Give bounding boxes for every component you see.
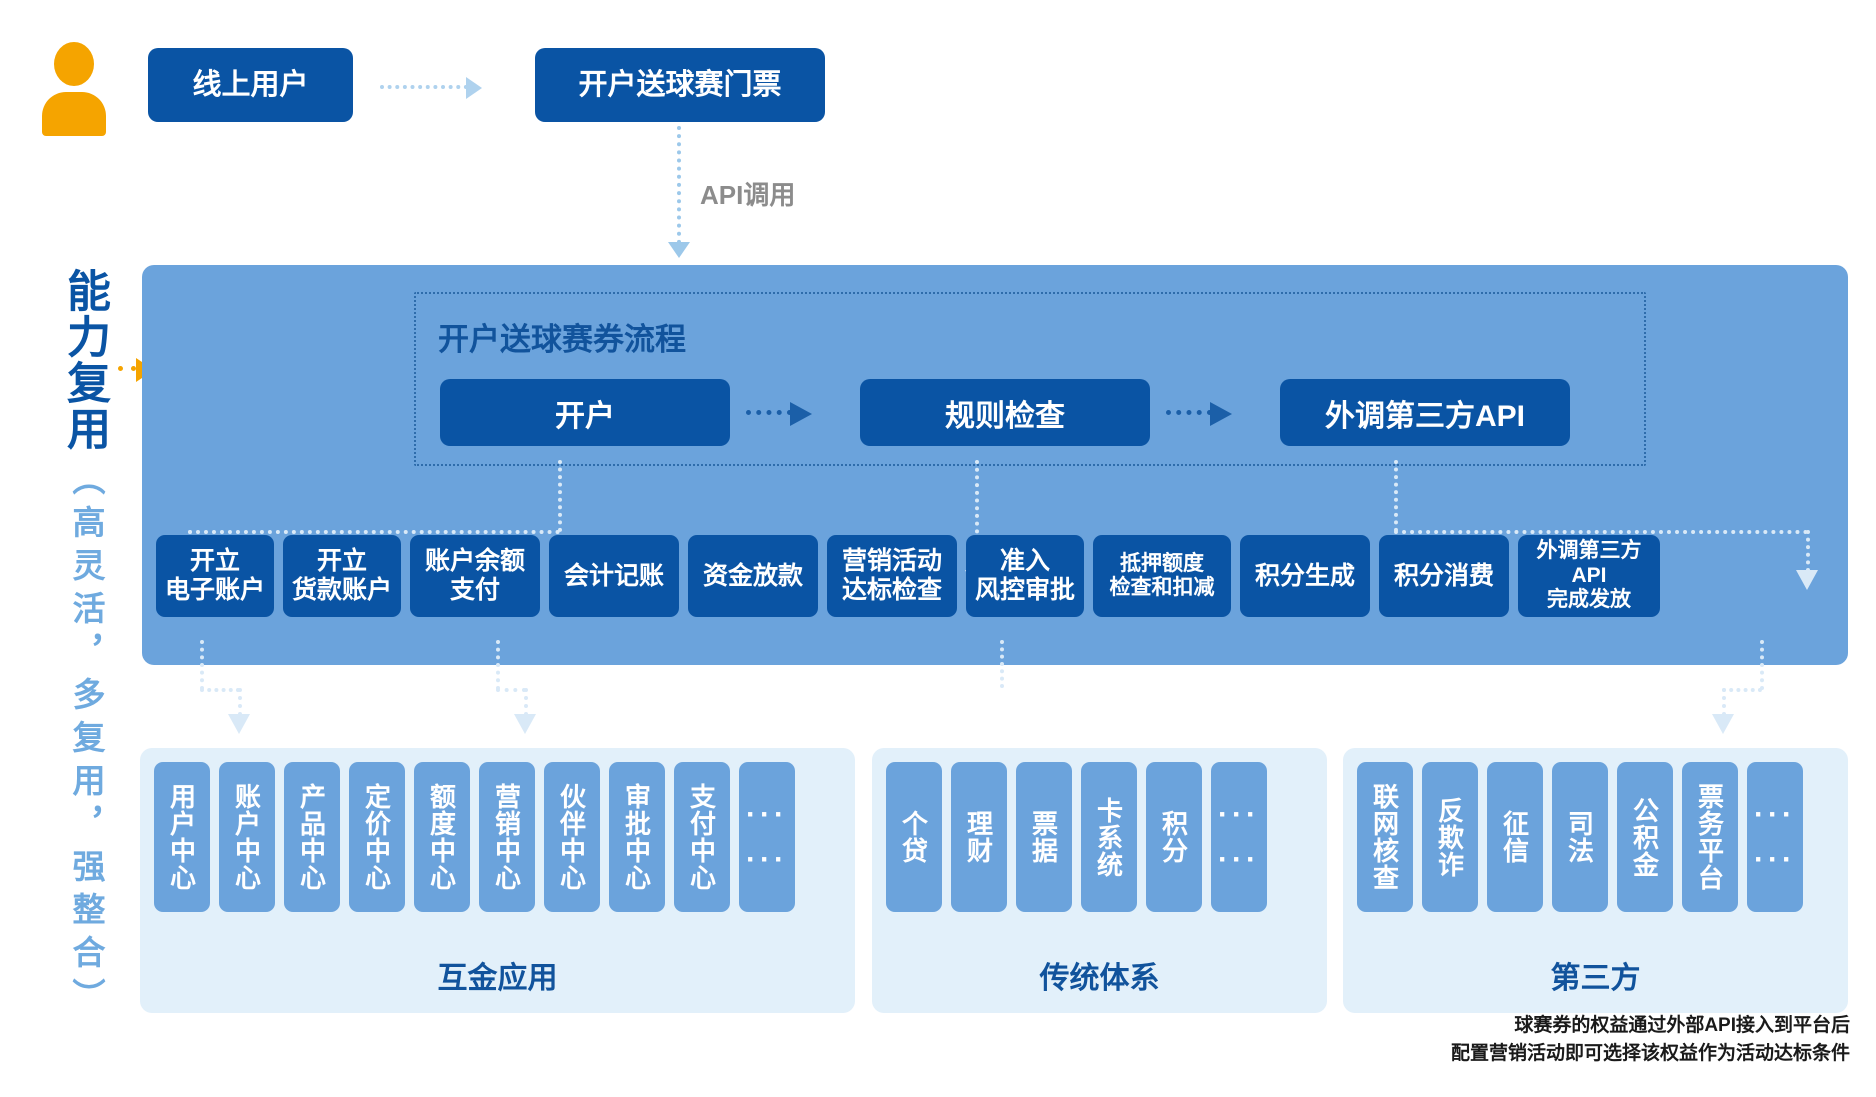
system-chip[interactable]: 卡系统 <box>1081 762 1137 912</box>
footnote-line-1: 球赛券的权益通过外部API接入到平台后 <box>1440 1012 1850 1040</box>
system-group-title: 第三方 <box>1343 953 1848 997</box>
system-chip[interactable]: 司法 <box>1552 762 1608 912</box>
system-chip[interactable]: 个贷 <box>886 762 942 912</box>
system-chip[interactable]: 伙伴中心 <box>544 762 600 912</box>
system-chip[interactable]: 票务平台 <box>1682 762 1738 912</box>
system-chip[interactable]: 公积金 <box>1617 762 1673 912</box>
system-chip[interactable]: 反欺诈 <box>1422 762 1478 912</box>
system-group-title: 互金应用 <box>140 953 855 997</box>
system-chip[interactable]: 账户中心 <box>219 762 275 912</box>
system-chip[interactable]: 票据 <box>1016 762 1072 912</box>
system-chip[interactable]: 联网核查 <box>1357 762 1413 912</box>
system-chip[interactable]: 产品中心 <box>284 762 340 912</box>
system-chip[interactable]: 审批中心 <box>609 762 665 912</box>
system-chip[interactable]: 积分 <box>1146 762 1202 912</box>
system-group-title: 传统体系 <box>872 953 1327 997</box>
system-chip-more[interactable]: ··· ··· <box>739 762 795 912</box>
system-chip[interactable]: 额度中心 <box>414 762 470 912</box>
system-group-traditional: 个贷理财票据卡系统积分··· ··· 传统体系 <box>872 748 1327 1013</box>
system-chip[interactable]: 用户中心 <box>154 762 210 912</box>
system-group-third-party: 联网核查反欺诈征信司法公积金票务平台··· ··· 第三方 <box>1343 748 1848 1013</box>
system-chip[interactable]: 理财 <box>951 762 1007 912</box>
system-chip-more[interactable]: ··· ··· <box>1747 762 1803 912</box>
footnote-caption: 球赛券的权益通过外部API接入到平台后 配置营销活动即可选择该权益作为活动达标条… <box>1440 1012 1850 1067</box>
footnote-line-2: 配置营销活动即可选择该权益作为活动达标条件 <box>1440 1040 1850 1068</box>
system-chip-list: 用户中心账户中心产品中心定价中心额度中心营销中心伙伴中心审批中心支付中心··· … <box>154 762 795 912</box>
system-chip[interactable]: 定价中心 <box>349 762 405 912</box>
system-chip[interactable]: 征信 <box>1487 762 1543 912</box>
system-group-fintech: 用户中心账户中心产品中心定价中心额度中心营销中心伙伴中心审批中心支付中心··· … <box>140 748 855 1013</box>
system-chip[interactable]: 支付中心 <box>674 762 730 912</box>
system-chip-more[interactable]: ··· ··· <box>1211 762 1267 912</box>
system-chip[interactable]: 营销中心 <box>479 762 535 912</box>
system-chip-list: 联网核查反欺诈征信司法公积金票务平台··· ··· <box>1357 762 1803 912</box>
system-chip-list: 个贷理财票据卡系统积分··· ··· <box>886 762 1267 912</box>
